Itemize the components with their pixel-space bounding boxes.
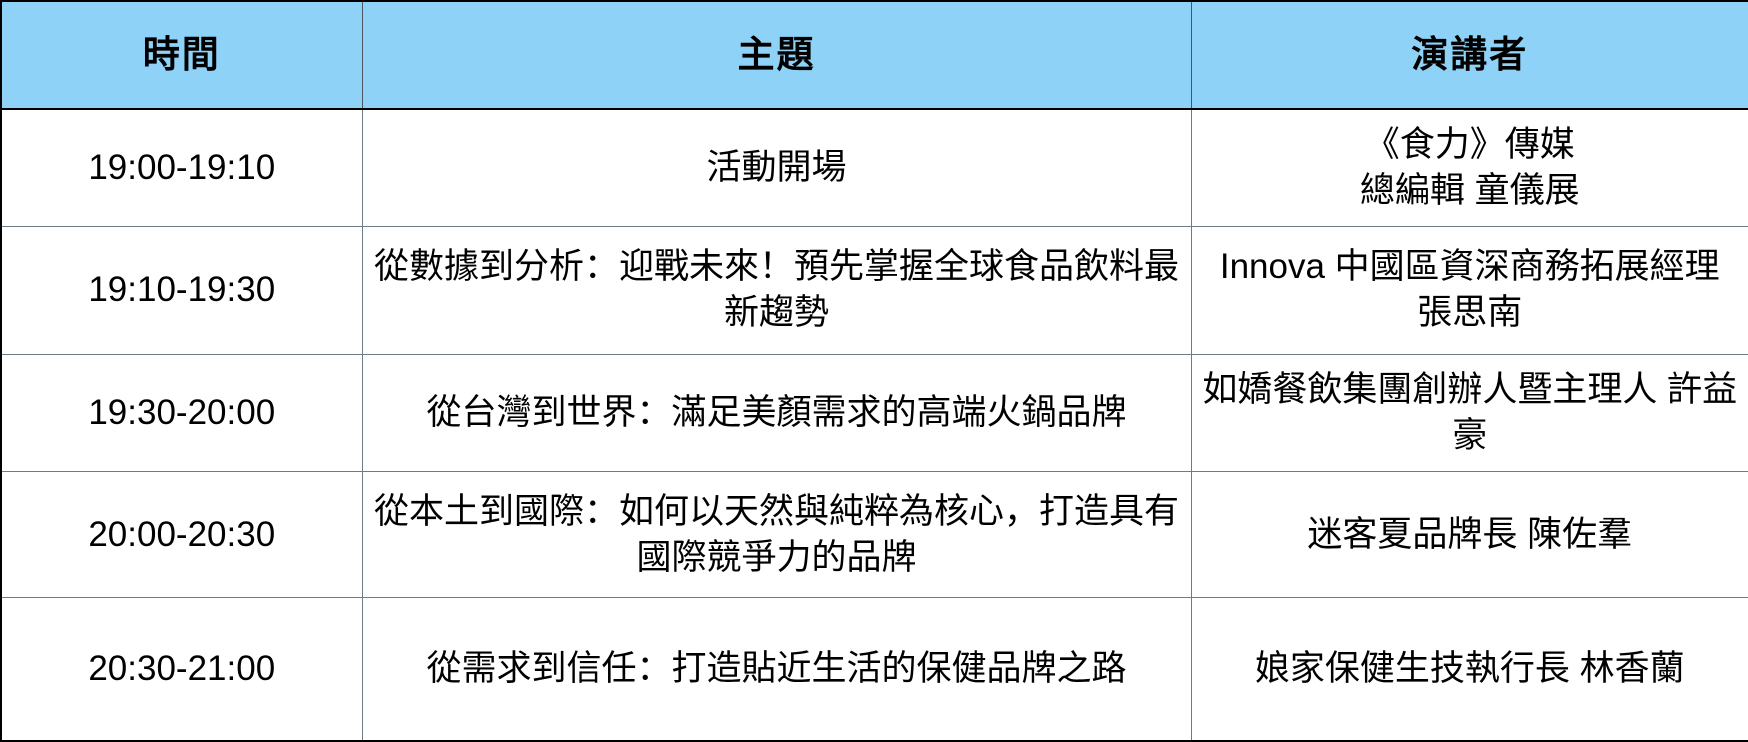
table-header-row: 時間 主題 演講者 <box>1 1 1748 109</box>
cell-time: 19:00-19:10 <box>1 109 362 226</box>
cell-topic: 從需求到信任：打造貼近生活的保健品牌之路 <box>362 598 1191 741</box>
column-header-time: 時間 <box>1 1 362 109</box>
cell-speaker: 娘家保健生技執行長 林香蘭 <box>1191 598 1748 741</box>
table-row: 19:10-19:30 從數據到分析：迎戰未來！預先掌握全球食品飲料最新趨勢 I… <box>1 226 1748 354</box>
speaker-line-2: 總編輯 童儀展 <box>1198 168 1743 214</box>
column-header-speaker: 演講者 <box>1191 1 1748 109</box>
cell-topic: 從台灣到世界：滿足美顏需求的高端火鍋品牌 <box>362 355 1191 472</box>
cell-topic: 活動開場 <box>362 109 1191 226</box>
speaker-line-1: 《食力》傳媒 <box>1198 122 1743 168</box>
cell-time: 19:30-20:00 <box>1 355 362 472</box>
cell-topic: 從本土到國際：如何以天然與純粹為核心，打造具有國際競爭力的品牌 <box>362 472 1191 598</box>
cell-speaker: 迷客夏品牌長 陳佐羣 <box>1191 472 1748 598</box>
table-row: 19:30-20:00 從台灣到世界：滿足美顏需求的高端火鍋品牌 如嬌餐飲集團創… <box>1 355 1748 472</box>
table-row: 19:00-19:10 活動開場 《食力》傳媒 總編輯 童儀展 <box>1 109 1748 226</box>
agenda-table: 時間 主題 演講者 19:00-19:10 活動開場 《食力》傳媒 總編輯 童儀… <box>0 0 1748 742</box>
cell-speaker: 《食力》傳媒 總編輯 童儀展 <box>1191 109 1748 226</box>
cell-speaker: Innova 中國區資深商務拓展經理 張思南 <box>1191 226 1748 354</box>
cell-time: 20:00-20:30 <box>1 472 362 598</box>
cell-speaker: 如嬌餐飲集團創辦人暨主理人 許益豪 <box>1191 355 1748 472</box>
cell-topic: 從數據到分析：迎戰未來！預先掌握全球食品飲料最新趨勢 <box>362 226 1191 354</box>
column-header-topic: 主題 <box>362 1 1191 109</box>
table-row: 20:00-20:30 從本土到國際：如何以天然與純粹為核心，打造具有國際競爭力… <box>1 472 1748 598</box>
table-row: 20:30-21:00 從需求到信任：打造貼近生活的保健品牌之路 娘家保健生技執… <box>1 598 1748 741</box>
cell-time: 19:10-19:30 <box>1 226 362 354</box>
cell-time: 20:30-21:00 <box>1 598 362 741</box>
